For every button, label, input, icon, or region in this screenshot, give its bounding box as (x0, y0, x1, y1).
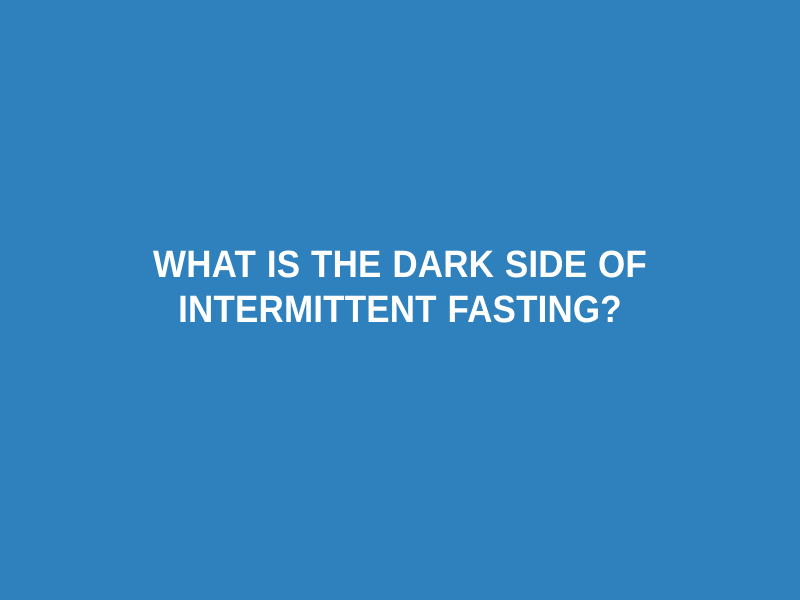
headline-block: What Is The Dark Side Of Intermittent Fa… (0, 243, 800, 333)
article-title-card: What Is The Dark Side Of Intermittent Fa… (0, 0, 800, 600)
page-title: What Is The Dark Side Of Intermittent Fa… (69, 243, 731, 333)
